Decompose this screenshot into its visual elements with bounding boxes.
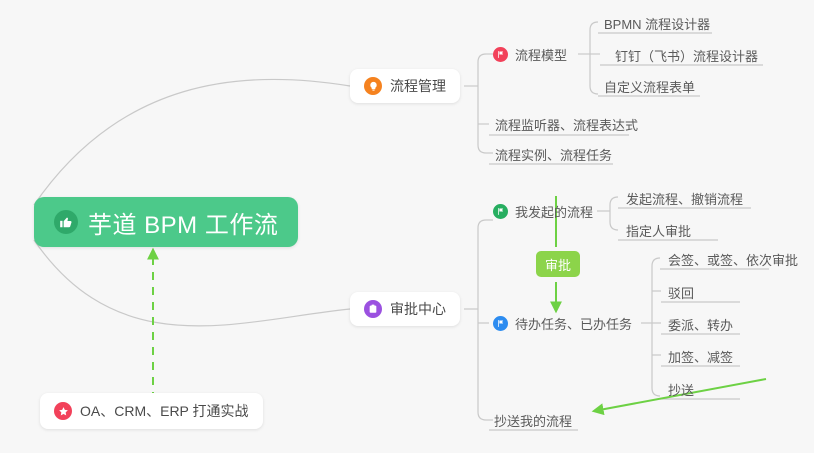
branch-node-process-management[interactable]: 流程管理 [350, 69, 460, 103]
leaf-label: 钉钉（飞书）流程设计器 [615, 46, 758, 65]
flag-icon [493, 316, 508, 331]
link-process-mgmt-bracket [478, 54, 486, 153]
link-mine-bracket [610, 197, 618, 230]
leaf-label: 发起流程、撤销流程 [626, 189, 743, 208]
link-model-bracket [590, 22, 598, 94]
root-label: 芋道 BPM 工作流 [88, 205, 278, 240]
node-label: 待办任务、已办任务 [515, 314, 632, 333]
leaf-process-listener-expression[interactable]: 流程监听器、流程表达式 [491, 111, 642, 137]
root-node[interactable]: 芋道 BPM 工作流 [34, 197, 298, 247]
flag-icon [493, 47, 508, 62]
leaf-label: 驳回 [668, 283, 694, 302]
clipboard-icon [364, 300, 382, 318]
lightbulb-icon [364, 77, 382, 95]
branch-node-approval-center[interactable]: 审批中心 [350, 292, 460, 326]
branch-label: 审批中心 [390, 299, 446, 319]
approval-badge-label: 审批 [545, 255, 571, 274]
leaf-label: 抄送 [668, 380, 694, 399]
link-todo-bracket [652, 258, 660, 396]
node-label: 流程模型 [515, 45, 567, 64]
node-my-initiated-process[interactable]: 我发起的流程 [489, 198, 597, 224]
thumbs-up-icon [54, 210, 78, 234]
link-root-to-process-mgmt [34, 79, 350, 205]
link-approval-bracket [478, 220, 486, 420]
leaf-countersign-orsign-sequential[interactable]: 会签、或签、依次审批 [664, 246, 802, 272]
leaf-cc-to-me-process[interactable]: 抄送我的流程 [490, 407, 576, 433]
leaf-custom-process-form[interactable]: 自定义流程表单 [600, 73, 699, 99]
leaf-label: 抄送我的流程 [494, 411, 572, 430]
branch-label: 流程管理 [390, 76, 446, 96]
leaf-label: 流程监听器、流程表达式 [495, 115, 638, 134]
node-process-model[interactable]: 流程模型 [489, 41, 571, 67]
leaf-start-cancel-process[interactable]: 发起流程、撤销流程 [622, 185, 747, 211]
leaf-label: BPMN 流程设计器 [604, 14, 710, 33]
leaf-label: 流程实例、流程任务 [495, 145, 612, 164]
leaf-add-remove-sign[interactable]: 加签、减签 [664, 343, 737, 369]
footer-note-node[interactable]: OA、CRM、ERP 打通实战 [40, 393, 263, 429]
leaf-label: 指定人审批 [626, 221, 691, 240]
leaf-delegate-transfer[interactable]: 委派、转办 [664, 311, 737, 337]
node-label: 我发起的流程 [515, 202, 593, 221]
leaf-label: 会签、或签、依次审批 [668, 250, 798, 269]
link-root-to-approval-center [34, 240, 350, 326]
mindmap-canvas: 芋道 BPM 工作流 流程管理 流程模型 BPMN 流程设计器 钉钉（飞书）流程… [0, 0, 814, 453]
leaf-label: 加签、减签 [668, 347, 733, 366]
leaf-label: 委派、转办 [668, 315, 733, 334]
node-todo-done-tasks[interactable]: 待办任务、已办任务 [489, 310, 636, 336]
leaf-dingtalk-feishu-designer[interactable]: 钉钉（飞书）流程设计器 [611, 42, 762, 68]
leaf-process-instance-task[interactable]: 流程实例、流程任务 [491, 141, 616, 167]
star-icon [54, 402, 72, 420]
flag-icon [493, 204, 508, 219]
leaf-label: 自定义流程表单 [604, 77, 695, 96]
leaf-bpmn-designer[interactable]: BPMN 流程设计器 [600, 10, 714, 36]
footer-note-label: OA、CRM、ERP 打通实战 [80, 401, 249, 421]
leaf-reject[interactable]: 驳回 [664, 279, 698, 305]
leaf-assignee-approval[interactable]: 指定人审批 [622, 217, 695, 243]
leaf-carbon-copy[interactable]: 抄送 [664, 376, 698, 402]
approval-badge: 审批 [536, 251, 580, 277]
